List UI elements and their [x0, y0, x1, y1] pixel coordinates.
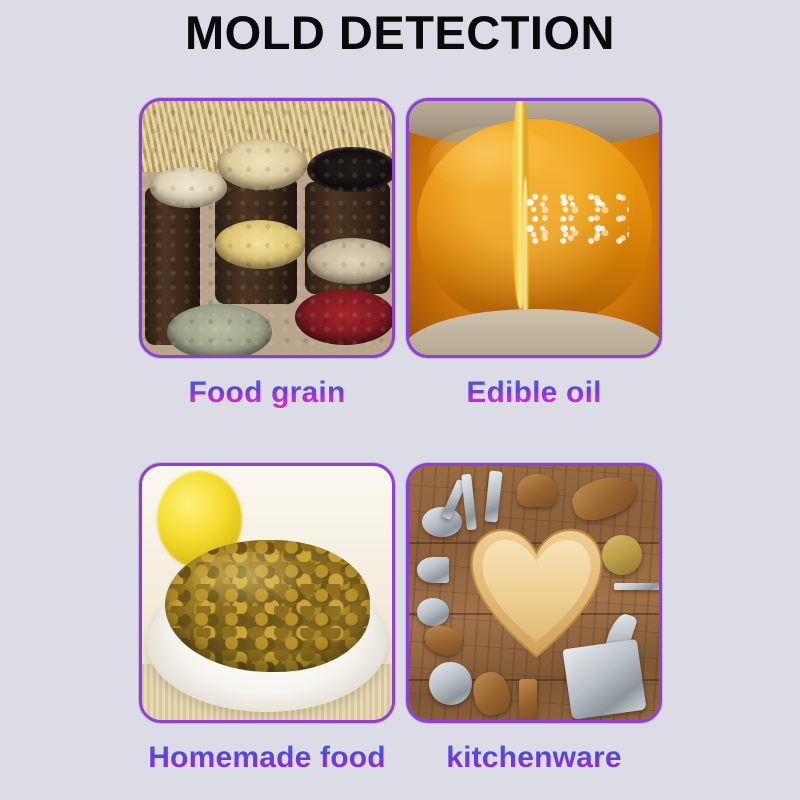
card-frame-kitchenware[interactable] — [406, 463, 662, 723]
sieve-icon — [429, 662, 472, 705]
strainer-icon — [602, 535, 642, 576]
category-grid: Food grain Edible oil — [139, 98, 662, 788]
category-card-edible-oil[interactable]: Edible oil — [406, 98, 662, 409]
card-label-homemade-food: Homemade food — [139, 741, 395, 774]
basting-brush-icon — [519, 679, 537, 720]
card-frame-edible-oil[interactable] — [406, 98, 662, 358]
page-title: MOLD DETECTION — [0, 8, 800, 57]
heart-cutting-board-icon — [469, 527, 604, 659]
mold-detection-page: MOLD DETECTION — [0, 0, 800, 800]
card-label-kitchenware: kitchenware — [406, 741, 662, 774]
category-card-food-grain[interactable]: Food grain — [139, 98, 395, 409]
category-card-homemade-food[interactable]: Homemade food — [139, 463, 395, 774]
category-card-kitchenware[interactable]: kitchenware — [406, 463, 662, 774]
grain-photo — [142, 101, 392, 355]
card-frame-homemade-food[interactable] — [139, 463, 395, 723]
card-label-edible-oil: Edible oil — [406, 376, 662, 409]
spoon-icon — [417, 598, 450, 626]
serving-fork-icon — [417, 557, 450, 582]
card-label-food-grain: Food grain — [139, 376, 395, 409]
card-frame-food-grain[interactable] — [139, 98, 395, 358]
homemade-photo — [142, 466, 392, 720]
metal-rod-icon — [614, 583, 659, 591]
spoon-icon — [422, 507, 462, 537]
oil-photo — [409, 101, 659, 355]
kitchenware-photo — [409, 466, 659, 720]
wooden-scoop-icon — [517, 474, 557, 507]
